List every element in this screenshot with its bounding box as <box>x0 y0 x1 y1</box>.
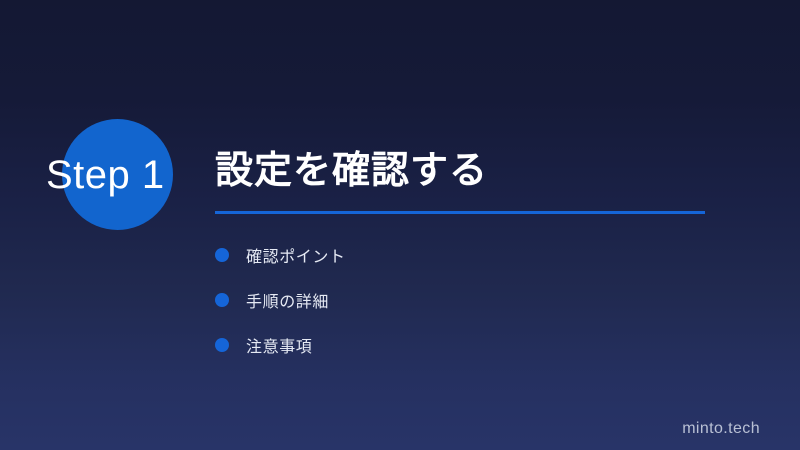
footer-brand: minto.tech <box>682 418 760 440</box>
bullet-dot-icon <box>215 293 229 307</box>
bullet-dot-icon <box>215 338 229 352</box>
bullet-item-label: 確認ポイント <box>246 243 346 267</box>
step-badge-label: Step 1 <box>46 150 165 200</box>
list-item: 注意事項 <box>215 322 705 367</box>
bullet-list: 確認ポイント 手順の詳細 注意事項 <box>215 232 705 367</box>
bullet-item-label: 手順の詳細 <box>246 288 329 312</box>
slide-canvas: Step 1 設定を確認する 確認ポイント 手順の詳細 注意事項 minto.t… <box>0 0 800 450</box>
list-item: 手順の詳細 <box>215 277 705 322</box>
bullet-dot-icon <box>215 248 229 262</box>
bullet-item-label: 注意事項 <box>246 333 312 357</box>
list-item: 確認ポイント <box>215 232 705 277</box>
slide-title: 設定を確認する <box>215 146 488 196</box>
title-divider <box>215 211 705 214</box>
